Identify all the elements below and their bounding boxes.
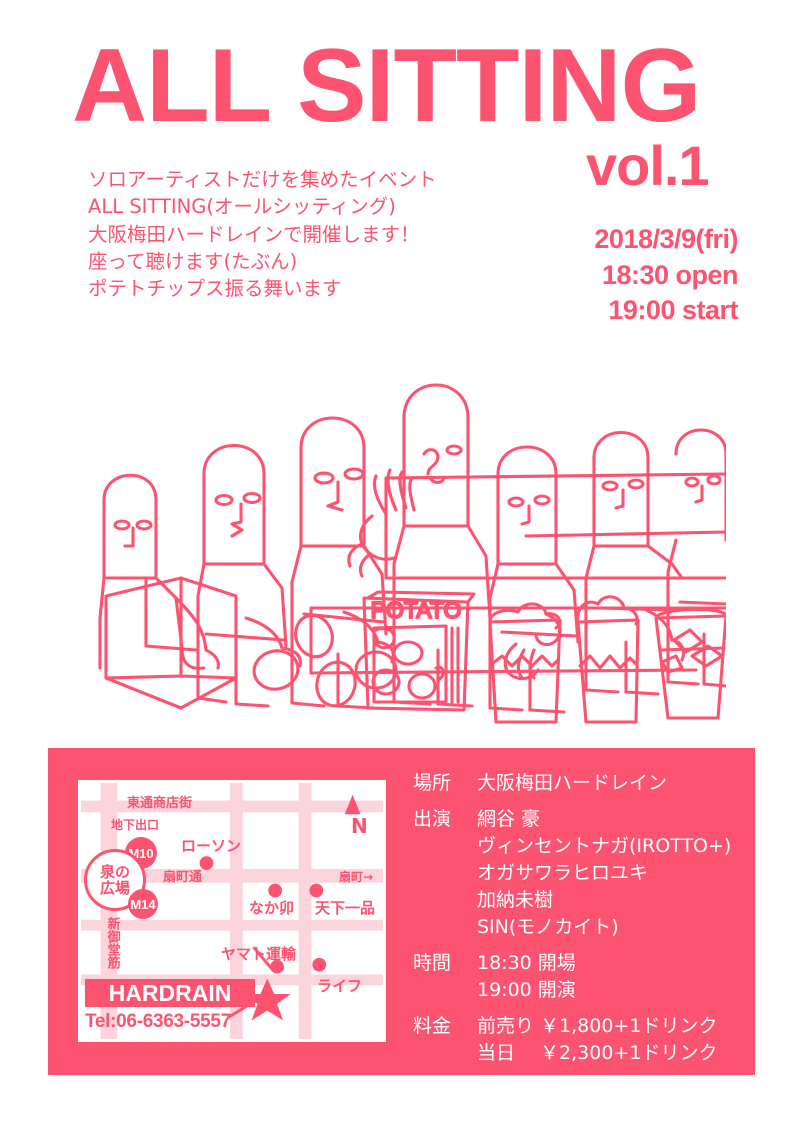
station-marker-m14: M14 — [128, 889, 158, 919]
volume-label: vol.1 — [586, 138, 709, 194]
map-label-north: N — [351, 816, 368, 837]
detail-key: 料金 — [413, 1013, 477, 1067]
detail-value: 18:30 開場 19:00 開演 — [477, 950, 576, 1004]
map-canvas: 東通商店街 地下出口 M10 泉の 広場 M14 ローソン 扇町通 扇町→ 新御… — [81, 783, 383, 1039]
map-label-ogimachi-arrow: 扇町→ — [339, 871, 373, 884]
info-panel: 東通商店街 地下出口 M10 泉の 広場 M14 ローソン 扇町通 扇町→ 新御… — [48, 748, 755, 1075]
detail-key: 時間 — [413, 950, 477, 1004]
venue-phone: Tel:06-6363-5557 — [85, 1011, 231, 1033]
detail-row: 時間 18:30 開場 19:00 開演 — [413, 950, 743, 1004]
detail-row: 場所 大阪梅田ハードレイン — [413, 770, 743, 797]
potato-bag-label: POTATO — [371, 597, 462, 623]
map-label-nakau: なか卯 — [249, 901, 294, 917]
poster-root: ALL SITTING vol.1 ソロアーティストだけを集めたイベント ALL… — [0, 0, 800, 1122]
map-label-shinmidosuji: 新御堂筋 — [105, 917, 119, 969]
event-details-list: 場所 大阪梅田ハードレイン 出演 網谷 豪 ヴィンセントナガ(IROTTO+) … — [413, 770, 743, 1076]
map-label-tenkaippin: 天下一品 — [315, 901, 375, 917]
venue-map: 東通商店街 地下出口 M10 泉の 広場 M14 ローソン 扇町通 扇町→ 新御… — [78, 780, 386, 1042]
detail-key: 出演 — [413, 806, 477, 941]
map-label-shopping-street: 東通商店街 — [127, 797, 192, 811]
event-date: 2018/3/9(fri) — [594, 222, 738, 258]
detail-key: 場所 — [413, 770, 477, 797]
page-title: ALL SITTING — [72, 34, 700, 138]
detail-value: 大阪梅田ハードレイン — [477, 770, 667, 797]
map-label-lawson: ローソン — [181, 839, 241, 855]
detail-value: 前売り ￥1,800+1ドリンク 当日 ￥2,300+1ドリンク — [477, 1013, 717, 1067]
venue-name-banner: HARDRAIN — [85, 979, 255, 1007]
seated-figures-illustration: POTATO — [86, 278, 726, 738]
detail-value: 網谷 豪 ヴィンセントナガ(IROTTO+) オガサワラヒロユキ 加納未樹 SI… — [477, 806, 731, 941]
map-label-ogimachi-dori: 扇町通 — [163, 871, 202, 885]
map-label-life: ライフ — [317, 979, 362, 995]
map-label-subway-exit: 地下出口 — [111, 819, 159, 832]
detail-row: 料金 前売り ￥1,800+1ドリンク 当日 ￥2,300+1ドリンク — [413, 1013, 743, 1067]
map-label-yamato: ヤマト運輸 — [221, 947, 296, 963]
detail-row: 出演 網谷 豪 ヴィンセントナガ(IROTTO+) オガサワラヒロユキ 加納未樹… — [413, 806, 743, 941]
